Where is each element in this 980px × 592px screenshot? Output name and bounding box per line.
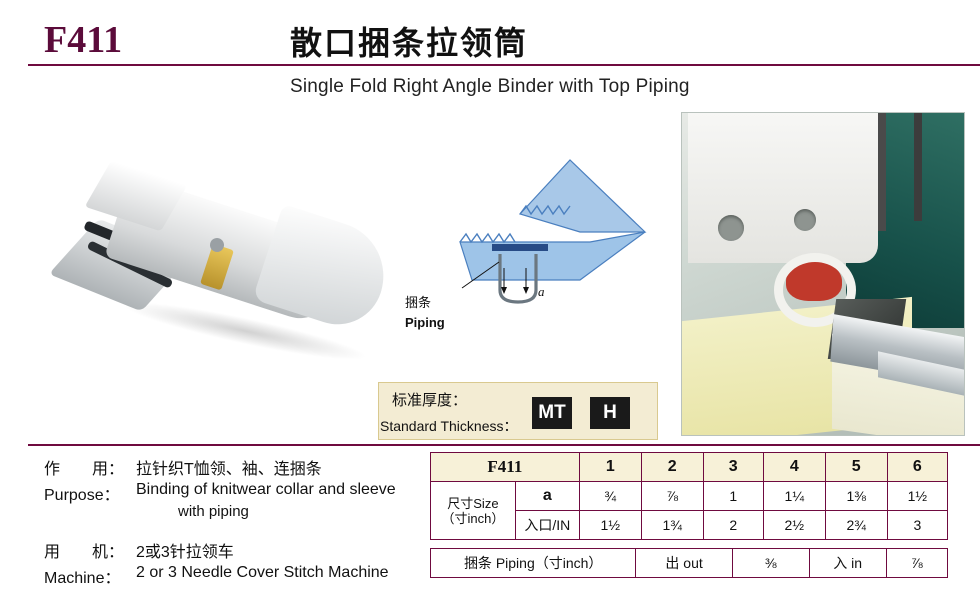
fabric-top-panel bbox=[520, 160, 645, 232]
band-zigzag bbox=[460, 234, 515, 242]
machine-white-housing bbox=[688, 113, 878, 263]
title-english: Single Fold Right Angle Binder with Top … bbox=[290, 76, 690, 98]
header-divider bbox=[28, 64, 980, 66]
cell-a-2: ⅞ bbox=[641, 482, 703, 511]
page-root: F411 散口捆条拉领筒 Single Fold Right Angle Bin… bbox=[0, 0, 980, 592]
cell-in-3: 2 bbox=[703, 511, 763, 540]
spec-col-4: 4 bbox=[763, 453, 825, 482]
thickness-label-chinese: 标准厚度： bbox=[392, 389, 467, 410]
size-unit-label: 尺寸Size （寸inch） bbox=[431, 482, 516, 540]
table-row: 捆条 Piping（寸inch） 出 out ⅜ 入 in ⅞ bbox=[431, 549, 948, 578]
dim-arrow-right bbox=[523, 287, 529, 294]
spec-code-cell: F411 bbox=[431, 453, 580, 482]
cell-a-6: 1½ bbox=[887, 482, 947, 511]
purpose-value-english: Binding of knitwear collar and sleeve bbox=[136, 481, 396, 505]
footer-divider bbox=[28, 444, 980, 446]
diagram-svg: a bbox=[400, 150, 665, 340]
spec-col-5: 5 bbox=[825, 453, 887, 482]
piping-in-value: ⅞ bbox=[886, 549, 947, 578]
spec-table: F411 1 2 3 4 5 6 尺寸Size （寸inch） a ¾ ⅞ 1 … bbox=[430, 452, 948, 540]
piping-row-label: 捆条 Piping（寸inch） bbox=[431, 549, 636, 578]
machine-port-left bbox=[718, 215, 744, 241]
thickness-label-english: Standard Thickness： bbox=[380, 416, 517, 436]
product-code: F411 bbox=[44, 18, 122, 62]
purpose-row-chinese: 作 用： 拉针织T恤领、袖、连捆条 bbox=[44, 455, 322, 479]
cell-a-3: 1 bbox=[703, 482, 763, 511]
purpose-row-english: Purpose： Binding of knitwear collar and … bbox=[44, 481, 396, 505]
piping-out-value: ⅜ bbox=[732, 549, 809, 578]
table-header-row: F411 1 2 3 4 5 6 bbox=[431, 453, 948, 482]
row-label-in: 入口/IN bbox=[515, 511, 579, 540]
spec-col-1: 1 bbox=[579, 453, 641, 482]
piping-stripe bbox=[492, 244, 548, 251]
binding-band bbox=[460, 232, 645, 280]
piping-label-chinese: 捆条 bbox=[405, 292, 431, 311]
machine-key-english: Machine： bbox=[44, 564, 136, 588]
piping-in-label: 入 in bbox=[809, 549, 886, 578]
piping-table: 捆条 Piping（寸inch） 出 out ⅜ 入 in ⅞ bbox=[430, 548, 948, 578]
sewing-machine-photo bbox=[681, 112, 965, 436]
piping-label-english: Piping bbox=[405, 315, 445, 330]
row-label-a: a bbox=[515, 482, 579, 511]
thickness-badge-mt: MT bbox=[532, 397, 572, 429]
title-chinese: 散口捆条拉领筒 bbox=[290, 18, 528, 64]
thickness-badge-h: H bbox=[590, 397, 630, 429]
spec-col-6: 6 bbox=[887, 453, 947, 482]
cell-in-4: 2½ bbox=[763, 511, 825, 540]
table-row: 尺寸Size （寸inch） a ¾ ⅞ 1 1¼ 1⅜ 1½ bbox=[431, 482, 948, 511]
cell-in-1: 1½ bbox=[579, 511, 641, 540]
machine-row-english: Machine： 2 or 3 Needle Cover Stitch Mach… bbox=[44, 564, 389, 588]
piping-out-label: 出 out bbox=[636, 549, 732, 578]
machine-bar-right bbox=[914, 113, 922, 221]
spec-col-3: 3 bbox=[703, 453, 763, 482]
machine-row-chinese: 用 机： 2或3针拉领车 bbox=[44, 538, 234, 562]
binder-product-photo bbox=[60, 150, 390, 380]
machine-bar-left bbox=[878, 113, 886, 231]
machine-value-english: 2 or 3 Needle Cover Stitch Machine bbox=[136, 564, 389, 588]
cross-section-diagram: a bbox=[400, 150, 665, 340]
machine-port-right bbox=[794, 209, 816, 231]
machine-value-chinese: 2或3针拉领车 bbox=[136, 538, 234, 562]
purpose-value-english-line2: with piping bbox=[178, 503, 249, 520]
size-unit-label-sub: （寸inch） bbox=[434, 511, 512, 526]
spec-col-2: 2 bbox=[641, 453, 703, 482]
cell-a-4: 1¼ bbox=[763, 482, 825, 511]
cell-in-6: 3 bbox=[887, 511, 947, 540]
size-unit-label-main: 尺寸Size bbox=[434, 496, 512, 511]
cell-in-2: 1¾ bbox=[641, 511, 703, 540]
dimension-a-label: a bbox=[538, 284, 545, 299]
purpose-value-chinese: 拉针织T恤领、袖、连捆条 bbox=[136, 455, 322, 479]
cell-a-5: 1⅜ bbox=[825, 482, 887, 511]
machine-key-chinese: 用 机： bbox=[44, 538, 136, 562]
cell-in-5: 2¾ bbox=[825, 511, 887, 540]
purpose-key-english: Purpose： bbox=[44, 481, 136, 505]
purpose-key-chinese: 作 用： bbox=[44, 455, 136, 479]
cell-a-1: ¾ bbox=[579, 482, 641, 511]
